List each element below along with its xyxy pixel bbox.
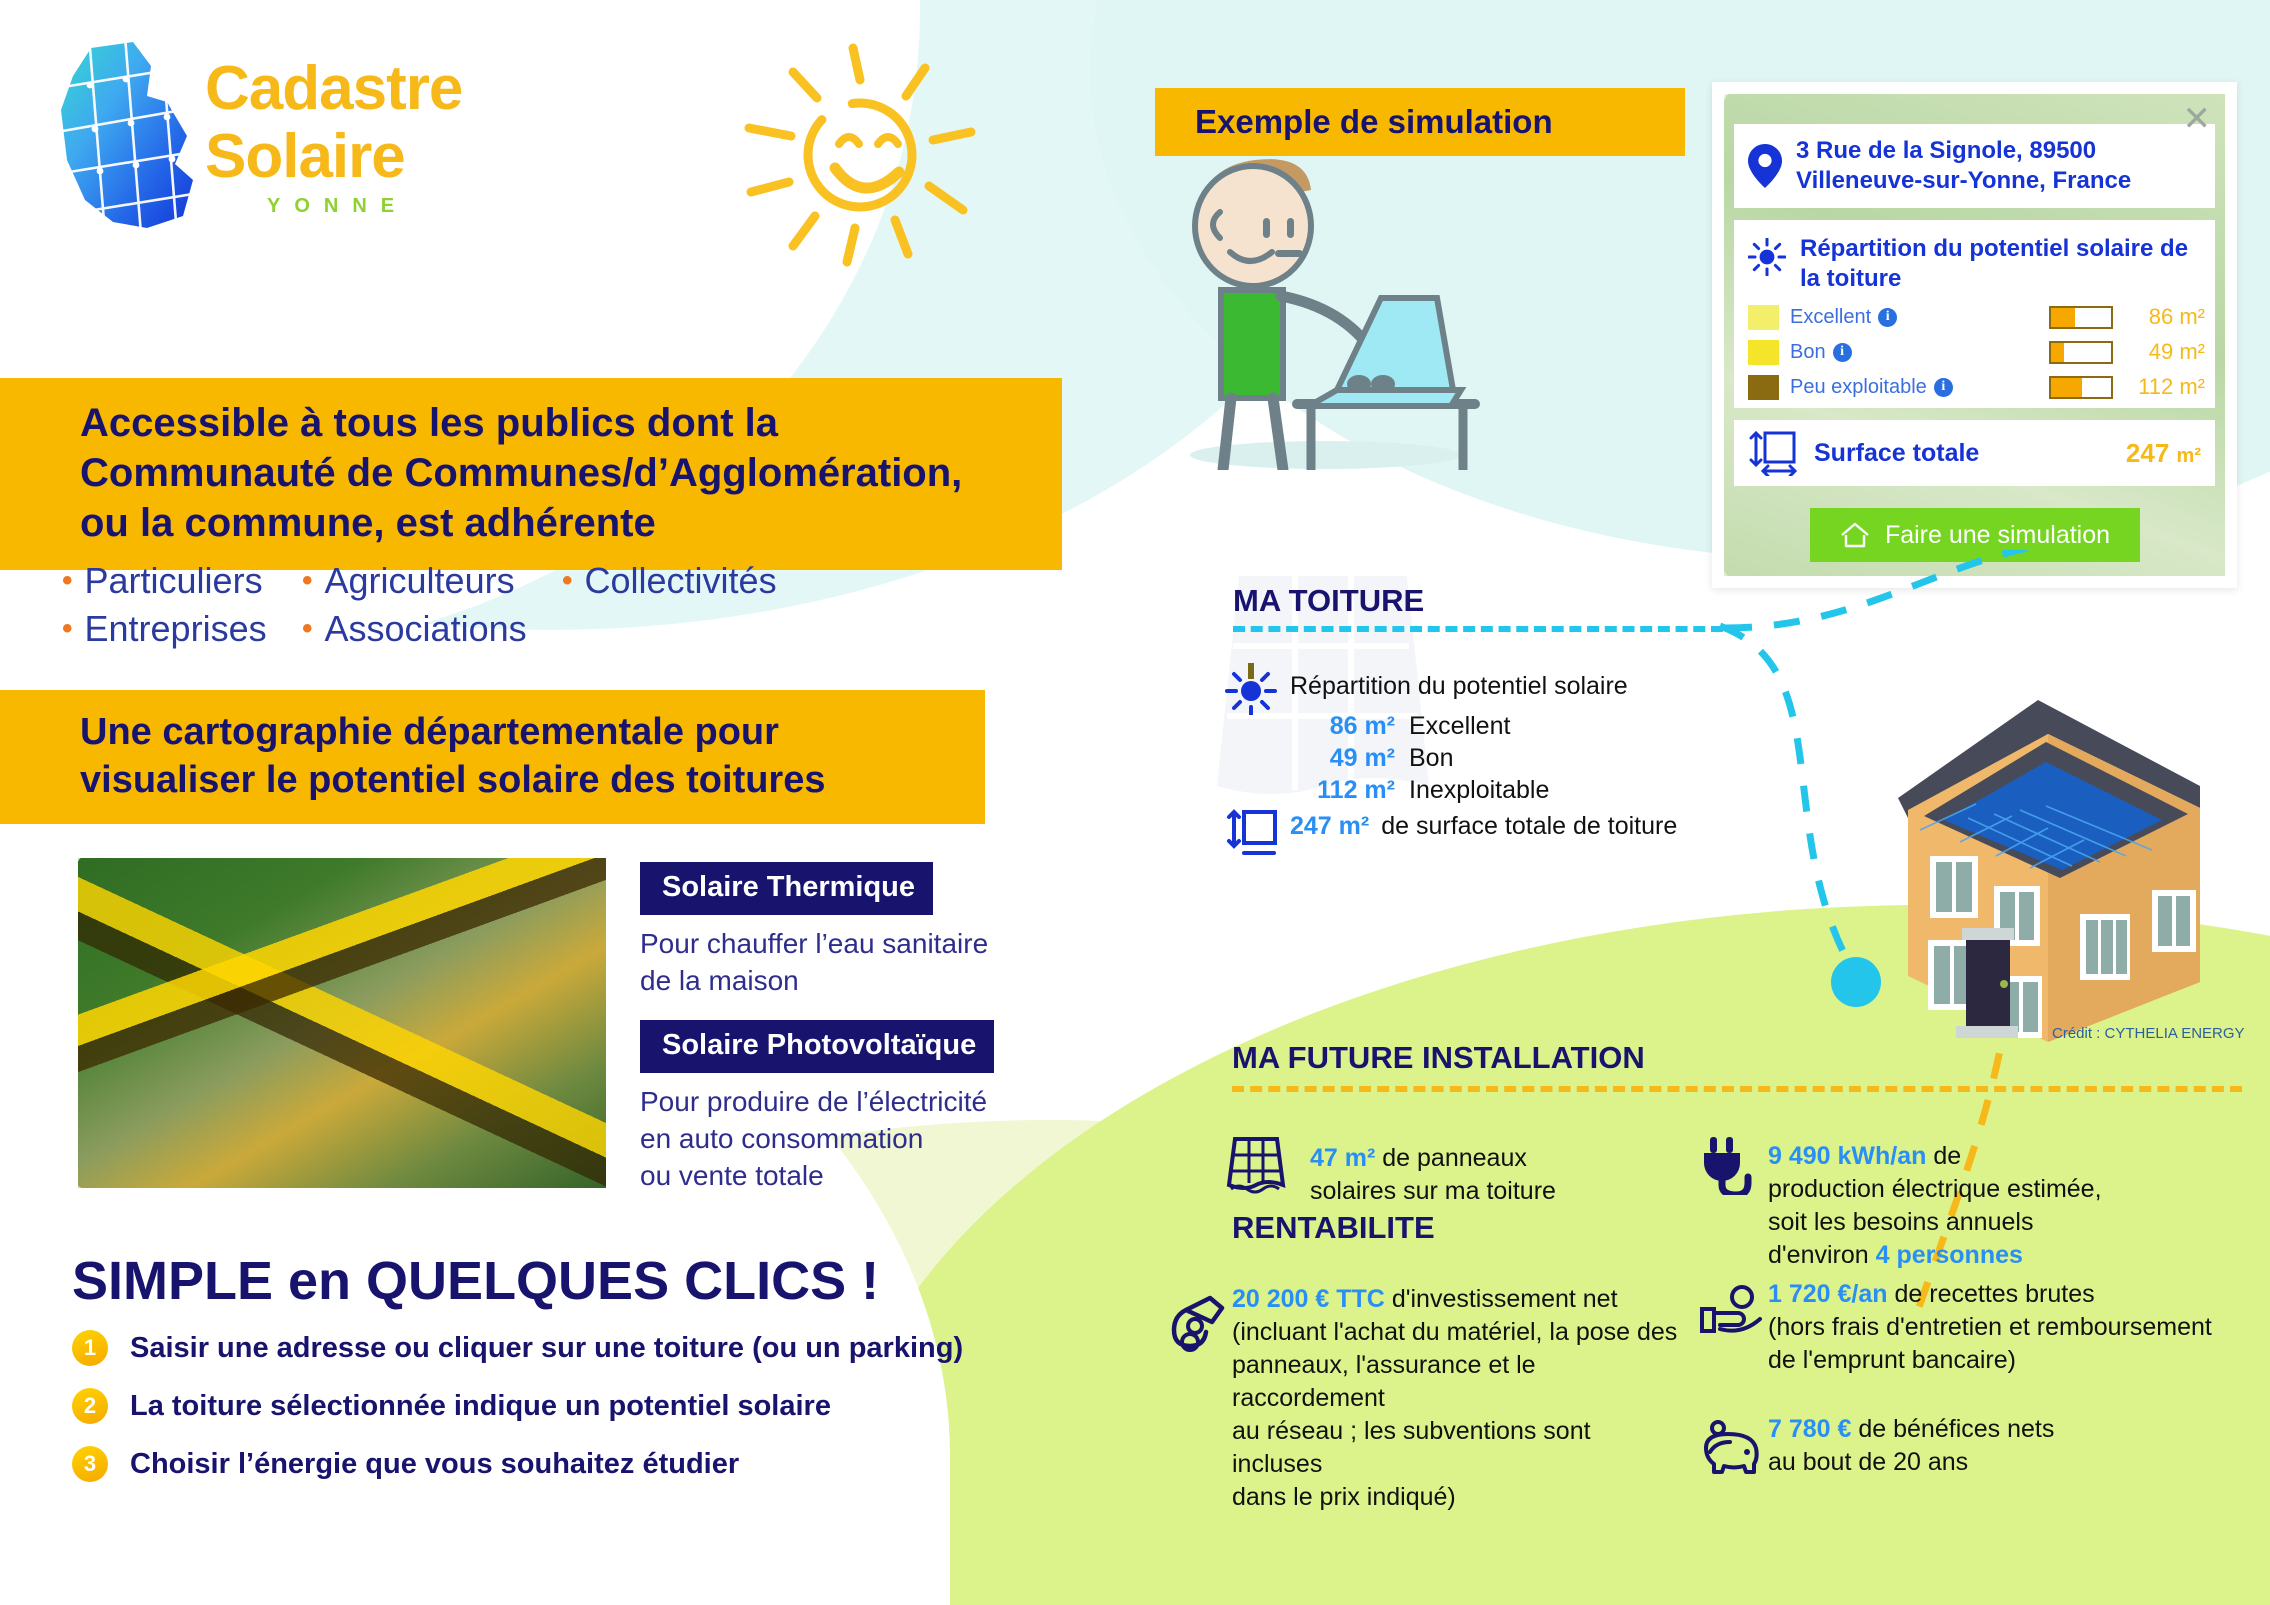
area-dimensions-icon xyxy=(1748,430,1798,476)
toiture-row: 86 m² Excellent xyxy=(1290,712,1720,741)
rentabilite-heading: RENTABILITE xyxy=(1232,1210,1435,1246)
address-row: 3 Rue de la Signole, 89500 Villeneuve-su… xyxy=(1734,124,2215,208)
logo-line-2: Solaire xyxy=(205,123,462,191)
banner1-line-1: Accessible à tous les publics dont la xyxy=(80,398,1062,448)
potential-title-line-1: Répartition du potentiel solaire de xyxy=(1800,234,2188,264)
sun-icon-toiture xyxy=(1225,663,1277,715)
logo-wordmark: Cadastre Solaire YONNE xyxy=(205,55,462,218)
map-pin-icon xyxy=(1748,144,1782,188)
step-item: 1 Saisir une adresse ou cliquer sur une … xyxy=(72,1330,1132,1366)
legend-bar-peu-exploitable xyxy=(2049,376,2113,399)
yonne-map-solar-icon xyxy=(55,40,205,230)
banner2-line-2: visualiser le potentiel solaire des toit… xyxy=(80,756,985,804)
ma-future-installation-dashed-rule xyxy=(1232,1086,2242,1092)
legend-bar-excellent xyxy=(2049,306,2113,329)
logo-subtitle: YONNE xyxy=(267,195,462,218)
banner1-line-3: ou la commune, est adhérente xyxy=(80,498,1062,548)
potential-title: Répartition du potentiel solaire de la t… xyxy=(1800,234,2188,294)
investment-text: 20 200 € TTC d'investissement net (inclu… xyxy=(1232,1283,1682,1514)
person-at-laptop-illustration xyxy=(1175,140,1575,470)
profit-value: 7 780 € xyxy=(1768,1415,1851,1443)
aerial-solar-map-image xyxy=(78,858,606,1188)
legend-row: Excellent i 86 m² xyxy=(1748,304,2205,330)
legend-swatch-peu-exploitable xyxy=(1748,375,1779,400)
production-people: 4 personnes xyxy=(1876,1241,2023,1269)
ma-toiture-heading: MA TOITURE xyxy=(1233,583,1424,619)
legend-value-bon: 49 m² xyxy=(2113,339,2205,365)
total-surface-label: Surface totale xyxy=(1814,439,1979,468)
toiture-label-bon: Bon xyxy=(1409,744,1453,773)
accessibility-banner: Accessible à tous les publics dont la Co… xyxy=(0,378,1062,570)
ma-toiture-total: 247 m² de surface totale de toiture xyxy=(1290,812,1677,841)
step-text-3: Choisir l’énergie que vous souhaitez étu… xyxy=(130,1448,739,1481)
panels-area-text: 47 m² de panneaux solaires sur ma toitur… xyxy=(1310,1142,1556,1208)
info-icon-excellent[interactable]: i xyxy=(1878,308,1897,327)
toiture-row: 49 m² Bon xyxy=(1290,744,1720,773)
open-hand-with-coin-icon xyxy=(1700,1285,1762,1341)
audience-item-associations: •Associations xyxy=(302,608,562,650)
legend-value-peu-exploitable: 112 m² xyxy=(2113,374,2205,400)
sun-icon xyxy=(1748,238,1786,276)
toiture-total-value: 247 m² xyxy=(1290,812,1369,841)
step-text-1: Saisir une adresse ou cliquer sur une to… xyxy=(130,1332,963,1365)
toiture-value-bon: 49 m² xyxy=(1290,744,1395,773)
solar-panel-icon xyxy=(1225,1135,1287,1197)
panels-area-value: 47 m² xyxy=(1310,1144,1375,1172)
steps-list: 1 Saisir une adresse ou cliquer sur une … xyxy=(72,1330,1132,1504)
profit-text: 7 780 € de bénéfices nets au bout de 20 … xyxy=(1768,1413,2054,1479)
energy-desc-solaire-thermique: Pour chauffer l’eau sanitaire de la mais… xyxy=(640,925,988,999)
address-line-2: Villeneuve-sur-Yonne, France xyxy=(1796,166,2131,196)
audience-item-agriculteurs: •Agriculteurs xyxy=(302,560,562,602)
toiture-total-label: de surface totale de toiture xyxy=(1381,812,1677,841)
ma-toiture-breakdown: 86 m² Excellent 49 m² Bon 112 m² Inexplo… xyxy=(1290,712,1720,808)
ma-toiture-repartition-label: Répartition du potentiel solaire xyxy=(1290,672,1628,701)
home-icon xyxy=(1839,521,1871,549)
step-number-3: 3 xyxy=(72,1446,108,1482)
area-dimensions-icon-toiture xyxy=(1225,808,1279,858)
logo-line-1: Cadastre xyxy=(205,55,462,123)
simulation-card[interactable]: ✕ 3 Rue de la Signole, 89500 Villeneuve-… xyxy=(1712,82,2237,588)
toiture-label-inexploitable: Inexploitable xyxy=(1409,776,1549,805)
brand-logo: Cadastre Solaire YONNE xyxy=(55,35,615,235)
step-number-2: 2 xyxy=(72,1388,108,1424)
power-plug-icon xyxy=(1698,1133,1760,1195)
legend-swatch-excellent xyxy=(1748,305,1779,330)
revenue-text: 1 720 €/an de recettes brutes (hors frai… xyxy=(1768,1278,2212,1377)
faire-une-simulation-button[interactable]: Faire une simulation xyxy=(1810,508,2140,562)
toiture-row: 112 m² Inexploitable xyxy=(1290,776,1720,805)
legend-row: Peu exploitable i 112 m² xyxy=(1748,374,2205,400)
legend-label-bon: Bon xyxy=(1790,341,1826,364)
energy-desc-solaire-photovoltaique: Pour produire de l’électricité en auto c… xyxy=(640,1083,987,1194)
piggy-bank-icon xyxy=(1698,1418,1764,1476)
audience-row-1: •Particuliers •Agriculteurs •Collectivit… xyxy=(62,560,962,602)
info-icon-bon[interactable]: i xyxy=(1833,343,1852,362)
total-surface-row: Surface totale 247 m² xyxy=(1734,420,2215,486)
simple-section-title: SIMPLE en QUELQUES CLICS ! xyxy=(72,1250,879,1312)
legend-label-excellent: Excellent xyxy=(1790,306,1871,329)
image-credit: Crédit : CYTHELIA ENERGY xyxy=(2052,1025,2245,1042)
legend-list: Excellent i 86 m² Bon i 49 m² Pe xyxy=(1748,304,2205,400)
house-with-solar-panels-illustration xyxy=(1780,690,2250,1050)
ma-toiture-dashed-rule xyxy=(1233,626,1723,632)
example-banner-label: Exemple de simulation xyxy=(1195,103,1553,141)
energy-title-solaire-photovoltaique: Solaire Photovoltaïque xyxy=(640,1020,994,1073)
panels-area-label-2: solaires sur ma toiture xyxy=(1310,1175,1556,1208)
revenue-value: 1 720 €/an xyxy=(1768,1280,1888,1308)
step-text-2: La toiture sélectionnée indique un poten… xyxy=(130,1390,831,1423)
ma-future-installation-heading: MA FUTURE INSTALLATION xyxy=(1232,1040,1645,1076)
address-text: 3 Rue de la Signole, 89500 Villeneuve-su… xyxy=(1796,136,2131,196)
production-text: 9 490 kWh/an de production électrique es… xyxy=(1768,1140,2102,1272)
audience-item-particuliers: •Particuliers xyxy=(62,560,302,602)
hand-with-coin-icon xyxy=(1168,1290,1230,1352)
panels-area-label: de panneaux xyxy=(1382,1144,1527,1172)
legend-row: Bon i 49 m² xyxy=(1748,339,2205,365)
audience-list: •Particuliers •Agriculteurs •Collectivit… xyxy=(62,560,962,656)
banner2-line-1: Une cartographie départementale pour xyxy=(80,708,985,756)
toiture-label-excellent: Excellent xyxy=(1409,712,1510,741)
close-icon[interactable]: ✕ xyxy=(2183,102,2212,136)
cartography-banner: Une cartographie départementale pour vis… xyxy=(0,690,985,824)
infographic-root: Cadastre Solaire YONNE Exemple de simula… xyxy=(0,0,2270,1605)
legend-label-peu-exploitable: Peu exploitable xyxy=(1790,376,1927,399)
audience-item-collectivites: •Collectivités xyxy=(562,560,777,602)
audience-row-2: •Entreprises •Associations xyxy=(62,608,962,650)
toiture-value-inexploitable: 112 m² xyxy=(1290,776,1395,805)
legend-bar-bon xyxy=(2049,341,2113,364)
banner1-line-2: Communauté de Communes/d’Agglomération, xyxy=(80,448,1062,498)
investment-value: 20 200 € TTC xyxy=(1232,1285,1385,1313)
potential-panel: Répartition du potentiel solaire de la t… xyxy=(1734,220,2215,408)
step-number-1: 1 xyxy=(72,1330,108,1366)
legend-swatch-bon xyxy=(1748,340,1779,365)
total-surface-value: 247 m² xyxy=(2126,438,2201,469)
step-item: 2 La toiture sélectionnée indique un pot… xyxy=(72,1388,1132,1424)
production-value: 9 490 kWh/an xyxy=(1768,1142,1926,1170)
smiling-sun-icon xyxy=(735,40,985,270)
audience-item-entreprises: •Entreprises xyxy=(62,608,302,650)
legend-value-excellent: 86 m² xyxy=(2113,304,2205,330)
simulation-map-background: ✕ 3 Rue de la Signole, 89500 Villeneuve-… xyxy=(1724,94,2225,576)
step-item: 3 Choisir l’énergie que vous souhaitez é… xyxy=(72,1446,1132,1482)
faire-une-simulation-label: Faire une simulation xyxy=(1885,521,2110,550)
potential-header: Répartition du potentiel solaire de la t… xyxy=(1748,234,2205,294)
potential-title-line-2: la toiture xyxy=(1800,264,2188,294)
address-line-1: 3 Rue de la Signole, 89500 xyxy=(1796,136,2131,166)
toiture-value-excellent: 86 m² xyxy=(1290,712,1395,741)
info-icon-peu-exploitable[interactable]: i xyxy=(1934,378,1953,397)
energy-title-solaire-thermique: Solaire Thermique xyxy=(640,862,933,915)
